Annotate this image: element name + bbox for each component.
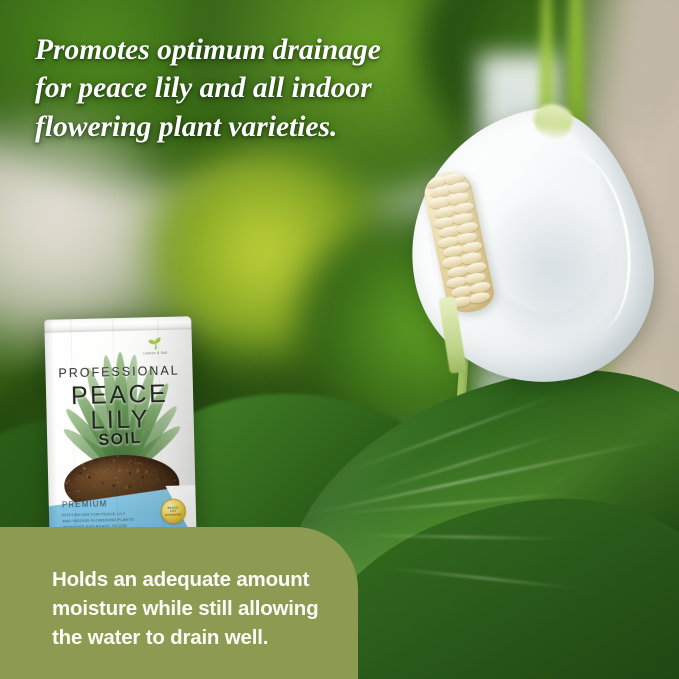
headline-line-2: for peace lily and all indoor [35, 69, 505, 107]
page-title: Promotes optimum drainage for peace lily… [35, 31, 505, 146]
spadix-bump [468, 291, 491, 305]
headline-line-3: flowering plant varieties. [35, 108, 505, 146]
bottom-line-1: Holds an adequate amount [52, 565, 352, 594]
bottom-message-panel: Holds an adequate amount moisture while … [0, 527, 358, 679]
product-package: 🌱 Leaves & Soil PROFESSIONAL PEACE LILY … [44, 316, 197, 548]
peace-lily-flower [411, 112, 649, 384]
product-bag: 🌱 Leaves & Soil PROFESSIONAL PEACE LILY … [44, 316, 197, 548]
bottom-line-2: moisture while still allowing [52, 594, 352, 623]
bottom-message-text: Holds an adequate amount moisture while … [52, 565, 352, 652]
product-marketing-image: Promotes optimum drainage for peace lily… [0, 0, 679, 679]
headline-line-1: Promotes optimum drainage [35, 31, 505, 69]
bag-sheen [44, 316, 197, 548]
bottom-line-3: the water to drain well. [52, 623, 352, 652]
